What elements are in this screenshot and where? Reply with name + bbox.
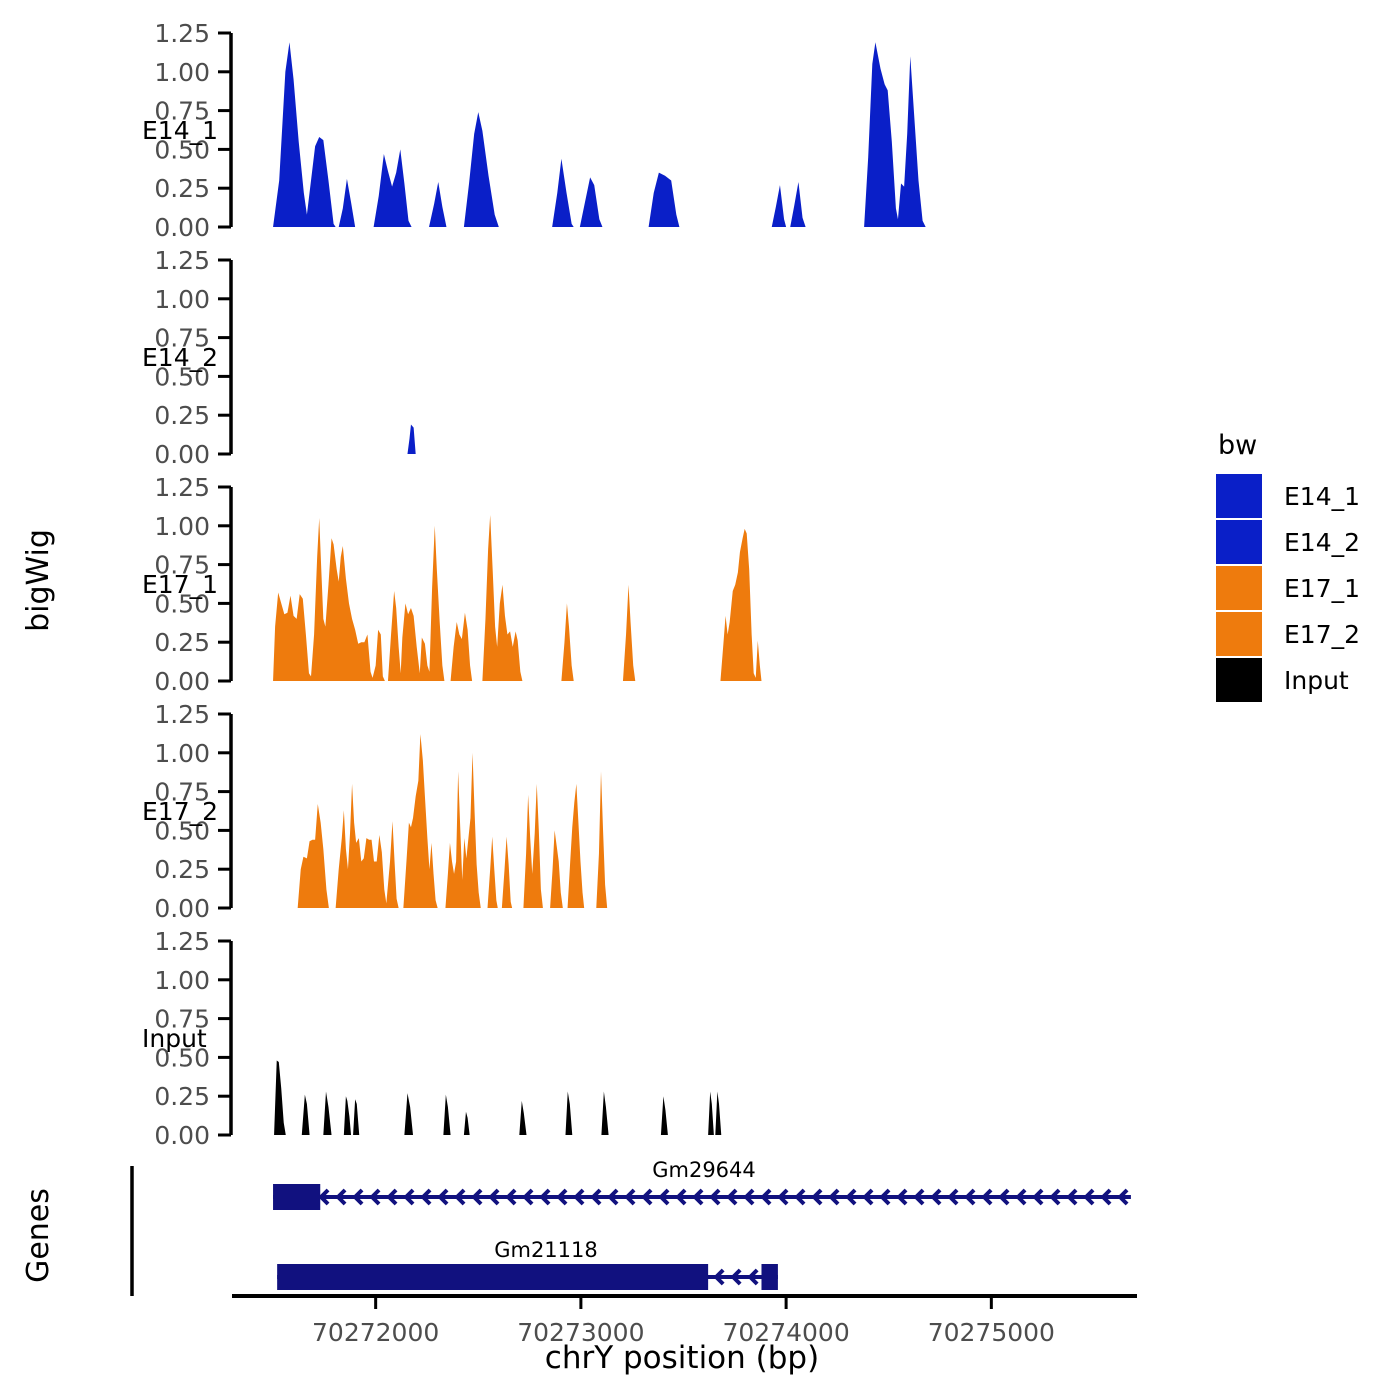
y-tick-label: 1.25 xyxy=(154,246,210,275)
legend-swatch-input xyxy=(1216,658,1262,702)
y-tick-label: 0.00 xyxy=(154,894,210,923)
genome-browser-plot: 0.000.250.500.751.001.25E14_10.000.250.5… xyxy=(0,0,1400,1400)
legend-items: E14_1E14_2E17_1E17_2Input xyxy=(1216,473,1396,703)
legend-item-e14_2[interactable]: E14_2 xyxy=(1216,519,1396,565)
gene-exon-block xyxy=(761,1264,777,1290)
legend-swatch-e14_1 xyxy=(1216,474,1262,518)
y-tick-label: 1.25 xyxy=(154,700,210,729)
legend-item-e14_1[interactable]: E14_1 xyxy=(1216,473,1396,519)
x-axis-title: chrY position (bp) xyxy=(232,1340,1132,1376)
signal-area-e17_2 xyxy=(298,734,607,908)
track-panel-e14_1: 0.000.250.500.751.001.25E14_1 xyxy=(142,19,926,242)
y-axis-label-bigwig-text: bigWig xyxy=(21,529,56,632)
signal-area-input xyxy=(274,1061,721,1136)
gene-track: Gm29644Gm21118 xyxy=(132,1158,1131,1296)
legend-swatch-e17_2 xyxy=(1216,612,1262,656)
y-tick-label: 0.25 xyxy=(154,401,210,430)
signal-area-e17_1 xyxy=(273,515,761,681)
gene-gm21118[interactable]: Gm21118 xyxy=(277,1238,778,1290)
y-tick-label: 0.25 xyxy=(154,1082,210,1111)
y-tick-label: 1.00 xyxy=(154,58,210,87)
y-tick-label: 1.00 xyxy=(154,966,210,995)
y-tick-label: 0.00 xyxy=(154,1121,210,1150)
strip-label-e14_1: E14_1 xyxy=(142,116,218,145)
track-panel-e17_1: 0.000.250.500.751.001.25E17_1 xyxy=(142,473,761,696)
y-tick-label: 1.25 xyxy=(154,473,210,502)
y-axis-label-bigwig: bigWig xyxy=(8,470,68,690)
y-tick-label: 0.00 xyxy=(154,667,210,696)
y-axis-label-genes: Genes xyxy=(8,1160,68,1310)
y-tick-label: 1.00 xyxy=(154,739,210,768)
signal-area-e14_2 xyxy=(407,425,415,454)
legend: bw E14_1E14_2E17_1E17_2Input xyxy=(1216,430,1396,703)
y-tick-label: 0.25 xyxy=(154,628,210,657)
legend-item-e17_1[interactable]: E17_1 xyxy=(1216,565,1396,611)
legend-swatch-e17_1 xyxy=(1216,566,1262,610)
y-tick-label: 1.25 xyxy=(154,19,210,48)
legend-label-e14_1: E14_1 xyxy=(1284,482,1360,511)
legend-label-e17_1: E17_1 xyxy=(1284,574,1360,603)
y-tick-label: 1.00 xyxy=(154,285,210,314)
legend-swatch-e14_2 xyxy=(1216,520,1262,564)
signal-area-e14_1 xyxy=(273,42,926,227)
track-panel-e17_2: 0.000.250.500.751.001.25E17_2 xyxy=(142,700,607,923)
strip-label-e17_2: E17_2 xyxy=(142,797,218,826)
strip-label-input: Input xyxy=(142,1024,207,1053)
y-tick-label: 0.00 xyxy=(154,440,210,469)
y-tick-label: 1.00 xyxy=(154,512,210,541)
strip-label-e14_2: E14_2 xyxy=(142,343,218,372)
legend-title: bw xyxy=(1218,430,1396,461)
y-tick-label: 1.25 xyxy=(154,927,210,956)
y-tick-label: 0.25 xyxy=(154,855,210,884)
track-panel-e14_2: 0.000.250.500.751.001.25E14_2 xyxy=(142,246,416,469)
gene-exon-block xyxy=(273,1184,320,1210)
y-tick-label: 0.25 xyxy=(154,174,210,203)
track-panel-input: 0.000.250.500.751.001.25Input xyxy=(142,927,721,1150)
legend-label-e17_2: E17_2 xyxy=(1284,620,1360,649)
legend-label-e14_2: E14_2 xyxy=(1284,528,1360,557)
strip-label-e17_1: E17_1 xyxy=(142,570,218,599)
gene-exon-block xyxy=(277,1264,708,1290)
legend-item-input[interactable]: Input xyxy=(1216,657,1396,703)
y-axis-label-genes-text: Genes xyxy=(21,1188,56,1283)
gene-label-gm29644: Gm29644 xyxy=(652,1158,756,1182)
y-tick-label: 0.00 xyxy=(154,213,210,242)
gene-label-gm21118: Gm21118 xyxy=(494,1238,598,1262)
legend-label-input: Input xyxy=(1284,666,1349,695)
legend-item-e17_2[interactable]: E17_2 xyxy=(1216,611,1396,657)
gene-gm29644[interactable]: Gm29644 xyxy=(273,1158,1131,1210)
